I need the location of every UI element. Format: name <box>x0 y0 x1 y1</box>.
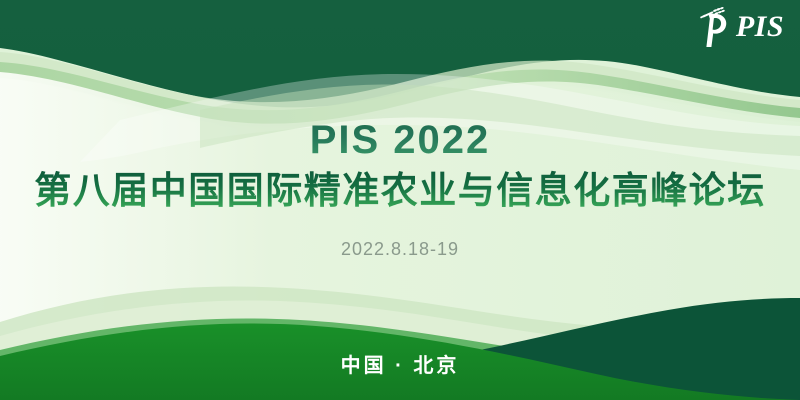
pis-logo[interactable]: PIS <box>696 6 784 48</box>
banner-content: PIS 2022 第八届中国国际精准农业与信息化高峰论坛 2022.8.18-1… <box>0 118 800 260</box>
conference-banner: PIS PIS 2022 第八届中国国际精准农业与信息化高峰论坛 2022.8.… <box>0 0 800 400</box>
logo-wordmark: PIS <box>736 12 784 42</box>
event-title-cn: 第八届中国国际精准农业与信息化高峰论坛 <box>34 170 766 213</box>
event-location: 中国 · 北京 <box>0 349 800 378</box>
event-title-en: PIS 2022 <box>310 118 491 162</box>
pis-wheat-p-icon <box>696 6 736 48</box>
event-date: 2022.8.18-19 <box>0 239 800 260</box>
